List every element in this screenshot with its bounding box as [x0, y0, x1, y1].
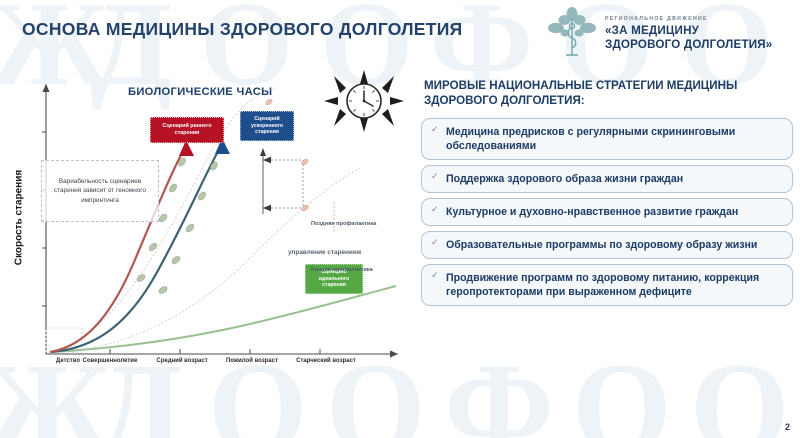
- strategy-item-3-label: Культурное и духовно-нравственное развит…: [446, 206, 738, 218]
- strategy-item-1-label: Медицина предрисков с регулярными скрини…: [446, 126, 735, 152]
- biological-clock-chart: БИОЛОГИЧЕСКИЕ ЧАСЫ Скорость старения: [0, 62, 418, 382]
- check-icon: ✓: [431, 204, 439, 216]
- variability-note-text: Вариабельность сценариев старения зависи…: [46, 177, 154, 205]
- callout-early-aging-label: Сценарий раннего старения: [154, 123, 220, 137]
- slide-header: ОСНОВА МЕДИЦИНЫ ЗДОРОВОГО ДОЛГОЛЕТИЯ: [0, 0, 800, 62]
- logo-text-block: РЕГИОНАЛЬНОЕ ДВИЖЕНИЕ «ЗА МЕДИЦИНУ ЗДОРО…: [605, 13, 772, 51]
- logo-line-1: «ЗА МЕДИЦИНУ: [605, 24, 772, 38]
- tree-caduceus-icon: [545, 5, 599, 59]
- logo-supertitle: РЕГИОНАЛЬНОЕ ДВИЖЕНИЕ: [605, 16, 772, 22]
- strategies-panel: МИРОВЫЕ НАЦИОНАЛЬНЫЕ СТРАТЕГИИ МЕДИЦИНЫ …: [418, 78, 800, 378]
- strategy-item-3[interactable]: ✓ Культурное и духовно-нравственное разв…: [421, 198, 793, 226]
- biological-clock-icon: [312, 68, 416, 134]
- check-icon: ✓: [431, 237, 439, 249]
- strategy-item-2-label: Поддержка здорового образа жизни граждан: [446, 173, 683, 185]
- callout-accelerated-aging-label: Сценарий ускоренного старения: [244, 116, 290, 136]
- strategy-item-4-label: Образовательные программы по здоровому о…: [446, 239, 757, 251]
- strategy-item-1[interactable]: ✓ Медицина предрисков с регулярными скри…: [421, 118, 793, 160]
- strategy-item-4[interactable]: ✓ Образовательные программы по здоровому…: [421, 231, 793, 259]
- check-icon: ✓: [431, 124, 439, 136]
- page-title: ОСНОВА МЕДИЦИНЫ ЗДОРОВОГО ДОЛГОЛЕТИЯ: [22, 19, 463, 40]
- strategy-item-5[interactable]: ✓ Продвижение программ по здоровому пита…: [421, 264, 793, 306]
- x-tick-label-4: Старческий возраст: [286, 358, 366, 364]
- callout-early-aging: Сценарий раннего старения: [150, 117, 224, 143]
- check-icon: ✓: [431, 270, 439, 282]
- slide-canvas: Ж Д О О Ф О О Ж Д О О Ф О О ОСНОВА МЕДИЦ…: [0, 0, 800, 438]
- callout-accelerated-aging: Сценарий ускоренного старения: [240, 111, 294, 141]
- x-tick-label-3: Пожилой возраст: [218, 358, 286, 364]
- annotation-late-prevention: Поздняя профилактика: [311, 221, 376, 227]
- variability-note: Вариабельность сценариев старения зависи…: [41, 160, 159, 222]
- brand-logo: РЕГИОНАЛЬНОЕ ДВИЖЕНИЕ «ЗА МЕДИЦИНУ ЗДОРО…: [545, 4, 795, 60]
- logo-line-2: ЗДОРОВОГО ДОЛГОЛЕТИЯ»: [605, 38, 772, 52]
- strategy-item-2[interactable]: ✓ Поддержка здорового образа жизни гражд…: [421, 165, 793, 193]
- strategies-heading: МИРОВЫЕ НАЦИОНАЛЬНЫЕ СТРАТЕГИИ МЕДИЦИНЫ …: [424, 78, 776, 109]
- annotation-aging-management: управление старением: [288, 249, 361, 256]
- x-tick-label-2: Средний возраст: [148, 358, 216, 364]
- strategy-item-5-label: Продвижение программ по здоровому питани…: [446, 272, 759, 298]
- page-number: 2: [785, 422, 790, 432]
- annotation-early-prevention: Ранняя профилактика: [311, 267, 373, 273]
- x-tick-label-1: Совершеннолетие: [72, 358, 148, 364]
- check-icon: ✓: [431, 171, 439, 183]
